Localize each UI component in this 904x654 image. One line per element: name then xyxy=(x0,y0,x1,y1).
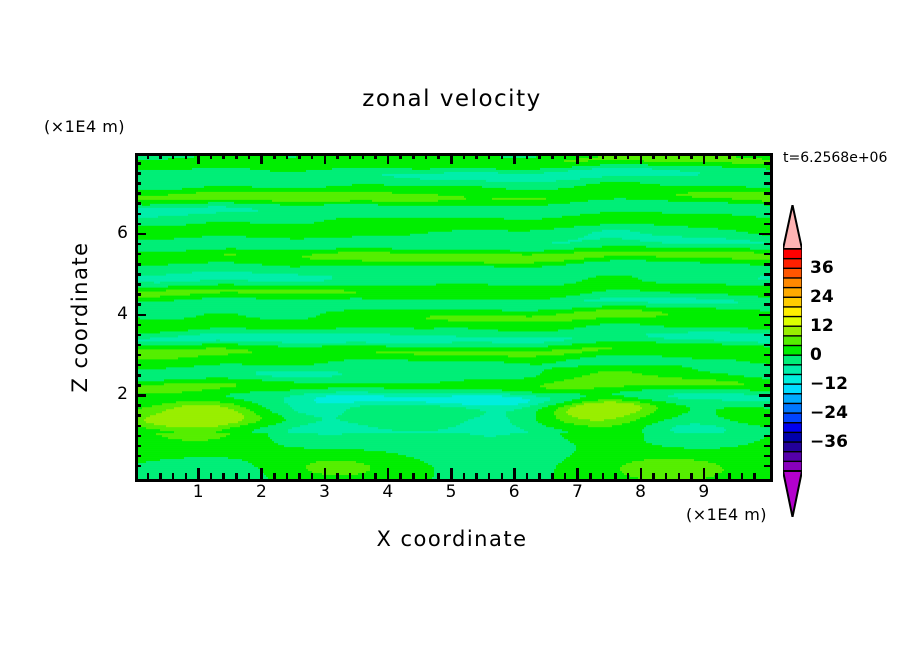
x-tick-label: 6 xyxy=(494,482,534,502)
colorbar-tick-label: −12 xyxy=(810,374,848,394)
x-minor-tick xyxy=(172,473,175,479)
x-minor-tick xyxy=(728,473,731,479)
x-minor-tick xyxy=(652,473,655,479)
y-minor-tick-right xyxy=(764,465,770,468)
colorbar-swatches xyxy=(783,205,802,517)
x-major-tick xyxy=(387,468,390,479)
y-minor-tick-right xyxy=(764,425,770,428)
x-minor-tick-top xyxy=(311,153,314,159)
x-tick-label: 8 xyxy=(621,482,661,502)
y-minor-tick xyxy=(135,414,141,417)
y-major-tick xyxy=(135,314,146,317)
x-minor-tick-top xyxy=(741,153,744,159)
y-minor-tick-right xyxy=(764,384,770,387)
x-minor-tick-top xyxy=(602,153,605,159)
x-minor-tick-top xyxy=(463,153,466,159)
y-minor-tick xyxy=(135,445,141,448)
page-title: zonal velocity xyxy=(0,86,904,112)
y-minor-tick-right xyxy=(764,283,770,286)
x-minor-tick xyxy=(690,473,693,479)
x-minor-tick xyxy=(336,473,339,479)
x-major-tick xyxy=(703,468,706,479)
x-major-tick xyxy=(197,468,200,479)
y-minor-tick-right xyxy=(764,303,770,306)
x-major-tick-top xyxy=(387,153,390,164)
x-minor-tick-top xyxy=(349,153,352,159)
x-major-tick-top xyxy=(576,153,579,164)
x-minor-tick xyxy=(185,473,188,479)
colorbar-tick-label: 0 xyxy=(810,345,822,365)
y-minor-tick xyxy=(135,455,141,458)
x-major-tick xyxy=(513,468,516,479)
y-minor-tick-right xyxy=(764,374,770,377)
x-tick-label: 1 xyxy=(178,482,218,502)
y-minor-tick-right xyxy=(764,364,770,367)
x-major-tick-top xyxy=(513,153,516,164)
x-minor-tick xyxy=(741,473,744,479)
x-major-tick-top xyxy=(197,153,200,164)
y-major-tick xyxy=(135,233,146,236)
x-minor-tick xyxy=(235,473,238,479)
colorbar-tick-label: 36 xyxy=(810,258,834,278)
x-minor-tick xyxy=(399,473,402,479)
x-minor-tick xyxy=(627,473,630,479)
x-minor-tick-top xyxy=(362,153,365,159)
y-minor-tick-right xyxy=(764,243,770,246)
y-minor-tick xyxy=(135,334,141,337)
y-minor-tick-right xyxy=(764,344,770,347)
y-minor-tick xyxy=(135,283,141,286)
colorbar-tick-label: −24 xyxy=(810,403,848,423)
y-minor-tick xyxy=(135,404,141,407)
y-minor-tick xyxy=(135,223,141,226)
x-minor-tick-top xyxy=(678,153,681,159)
x-minor-tick-top xyxy=(273,153,276,159)
y-minor-tick-right xyxy=(764,435,770,438)
y-minor-tick xyxy=(135,162,141,165)
y-minor-tick-right xyxy=(764,192,770,195)
y-minor-tick-right xyxy=(764,263,770,266)
x-minor-tick-top xyxy=(475,153,478,159)
x-minor-tick xyxy=(501,473,504,479)
x-major-tick xyxy=(576,468,579,479)
x-axis-title: X coordinate xyxy=(0,527,904,551)
x-minor-tick-top xyxy=(286,153,289,159)
x-minor-tick-top xyxy=(172,153,175,159)
y-minor-tick-right xyxy=(764,223,770,226)
x-minor-tick xyxy=(273,473,276,479)
x-tick-label: 2 xyxy=(241,482,281,502)
contour-plot-area[interactable] xyxy=(135,153,773,482)
x-minor-tick xyxy=(349,473,352,479)
x-minor-tick xyxy=(437,473,440,479)
x-minor-tick-top xyxy=(488,153,491,159)
x-minor-tick-top xyxy=(210,153,213,159)
x-minor-tick xyxy=(374,473,377,479)
x-tick-label: 7 xyxy=(557,482,597,502)
x-minor-tick-top xyxy=(753,153,756,159)
x-minor-tick-top xyxy=(437,153,440,159)
x-minor-tick-top xyxy=(652,153,655,159)
x-minor-tick xyxy=(488,473,491,479)
x-minor-tick xyxy=(159,473,162,479)
y-minor-tick-right xyxy=(764,182,770,185)
x-minor-tick-top xyxy=(501,153,504,159)
y-minor-tick xyxy=(135,344,141,347)
y-minor-tick xyxy=(135,182,141,185)
y-minor-tick-right xyxy=(764,354,770,357)
y-minor-tick-right xyxy=(764,253,770,256)
x-minor-tick xyxy=(248,473,251,479)
x-minor-tick xyxy=(311,473,314,479)
colorbar-tick-label: 24 xyxy=(810,287,834,307)
x-minor-tick-top xyxy=(185,153,188,159)
y-minor-tick-right xyxy=(764,445,770,448)
y-minor-tick xyxy=(135,172,141,175)
y-tick-label: 2 xyxy=(88,384,128,404)
y-minor-tick xyxy=(135,202,141,205)
y-minor-tick xyxy=(135,303,141,306)
x-minor-tick-top xyxy=(336,153,339,159)
y-minor-tick xyxy=(135,213,141,216)
x-minor-tick xyxy=(526,473,529,479)
x-minor-tick-top xyxy=(159,153,162,159)
y-minor-tick xyxy=(135,374,141,377)
y-major-tick xyxy=(135,394,146,397)
y-minor-tick xyxy=(135,273,141,276)
x-minor-tick-top xyxy=(690,153,693,159)
colorbar-tick-label: 12 xyxy=(810,316,834,336)
x-minor-tick-top xyxy=(248,153,251,159)
y-tick-label: 6 xyxy=(88,223,128,243)
x-minor-tick xyxy=(678,473,681,479)
x-minor-tick xyxy=(715,473,718,479)
x-minor-tick xyxy=(475,473,478,479)
x-minor-tick xyxy=(298,473,301,479)
x-minor-tick xyxy=(551,473,554,479)
y-minor-tick-right xyxy=(764,202,770,205)
x-minor-tick-top xyxy=(298,153,301,159)
x-major-tick xyxy=(260,468,263,479)
x-minor-tick xyxy=(147,473,150,479)
y-minor-tick xyxy=(135,364,141,367)
x-minor-tick-top xyxy=(728,153,731,159)
x-minor-tick xyxy=(210,473,213,479)
y-minor-tick xyxy=(135,465,141,468)
x-minor-tick-top xyxy=(564,153,567,159)
y-minor-tick xyxy=(135,243,141,246)
y-minor-tick-right xyxy=(764,404,770,407)
y-minor-tick-right xyxy=(764,414,770,417)
x-minor-tick xyxy=(538,473,541,479)
y-minor-tick-right xyxy=(764,213,770,216)
x-major-tick-top xyxy=(450,153,453,164)
colorbar-tick-label: −36 xyxy=(810,432,848,452)
y-minor-tick xyxy=(135,435,141,438)
y-minor-tick-right xyxy=(764,334,770,337)
x-major-tick xyxy=(324,468,327,479)
x-minor-tick xyxy=(564,473,567,479)
timestamp-label: t=6.2568e+06 xyxy=(783,150,887,166)
x-minor-tick-top xyxy=(551,153,554,159)
y-minor-tick-right xyxy=(764,293,770,296)
y-tick-label: 4 xyxy=(88,304,128,324)
x-tick-label: 5 xyxy=(431,482,471,502)
x-axis-unit-label: (×1E4 m) xyxy=(686,505,767,524)
x-minor-tick-top xyxy=(222,153,225,159)
x-minor-tick xyxy=(665,473,668,479)
x-tick-label: 4 xyxy=(368,482,408,502)
x-minor-tick-top xyxy=(374,153,377,159)
x-minor-tick-top xyxy=(425,153,428,159)
x-minor-tick xyxy=(614,473,617,479)
contour-field xyxy=(138,156,770,479)
x-major-tick-top xyxy=(640,153,643,164)
y-minor-tick-right xyxy=(764,273,770,276)
x-tick-label: 3 xyxy=(305,482,345,502)
y-minor-tick xyxy=(135,263,141,266)
y-minor-tick xyxy=(135,384,141,387)
x-minor-tick-top xyxy=(399,153,402,159)
x-minor-tick-top xyxy=(235,153,238,159)
x-major-tick xyxy=(450,468,453,479)
y-minor-tick xyxy=(135,293,141,296)
y-minor-tick xyxy=(135,324,141,327)
x-minor-tick-top xyxy=(412,153,415,159)
y-minor-tick-right xyxy=(764,172,770,175)
y-minor-tick xyxy=(135,354,141,357)
x-minor-tick-top xyxy=(147,153,150,159)
x-minor-tick xyxy=(463,473,466,479)
y-minor-tick xyxy=(135,425,141,428)
x-major-tick-top xyxy=(260,153,263,164)
x-minor-tick xyxy=(753,473,756,479)
x-minor-tick-top xyxy=(589,153,592,159)
y-minor-tick-right xyxy=(764,324,770,327)
x-minor-tick xyxy=(425,473,428,479)
y-major-tick-right xyxy=(759,314,770,317)
y-minor-tick-right xyxy=(764,455,770,458)
x-major-tick xyxy=(640,468,643,479)
y-minor-tick xyxy=(135,192,141,195)
x-minor-tick xyxy=(412,473,415,479)
x-minor-tick-top xyxy=(627,153,630,159)
x-minor-tick-top xyxy=(665,153,668,159)
y-major-tick-right xyxy=(759,233,770,236)
x-minor-tick-top xyxy=(715,153,718,159)
colorbar[interactable] xyxy=(783,205,802,517)
y-minor-tick xyxy=(135,253,141,256)
x-minor-tick xyxy=(602,473,605,479)
x-minor-tick-top xyxy=(538,153,541,159)
x-minor-tick xyxy=(362,473,365,479)
x-minor-tick-top xyxy=(614,153,617,159)
x-minor-tick xyxy=(222,473,225,479)
y-minor-tick-right xyxy=(764,162,770,165)
x-major-tick-top xyxy=(703,153,706,164)
y-major-tick-right xyxy=(759,394,770,397)
x-minor-tick xyxy=(286,473,289,479)
y-axis-unit-label: (×1E4 m) xyxy=(44,117,125,136)
x-major-tick-top xyxy=(324,153,327,164)
x-minor-tick xyxy=(589,473,592,479)
x-tick-label: 9 xyxy=(684,482,724,502)
x-minor-tick-top xyxy=(526,153,529,159)
